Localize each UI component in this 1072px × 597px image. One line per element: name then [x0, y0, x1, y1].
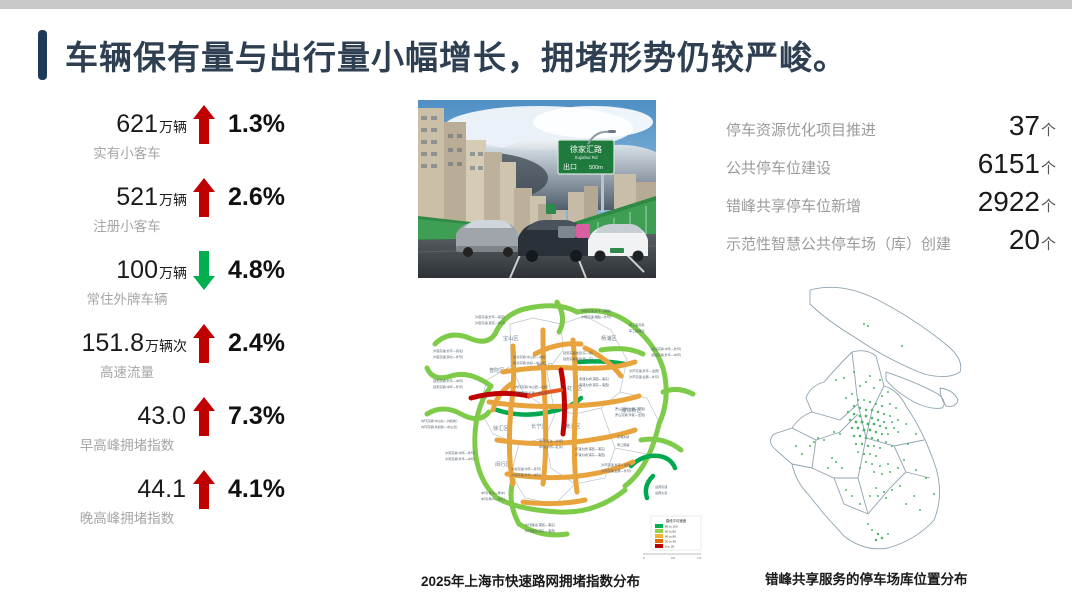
svg-text:中环(虹许—沪闵): 中环(虹许—沪闵) — [539, 438, 563, 443]
stat-unit: 万辆 — [159, 119, 187, 135]
svg-text:延安东路隧道(西—东): 延安东路隧道(西—东) — [563, 356, 593, 361]
svg-text:罗山高架(华夏—龙阳): 罗山高架(华夏—龙阳) — [615, 412, 645, 417]
stat-label: 常住外牌车辆 — [62, 288, 192, 308]
stat-label: 早高峰拥堵指数 — [62, 434, 192, 454]
parking-metric-unit: 个 — [1041, 198, 1056, 215]
svg-text:中环(沪闵—虹许): 中环(沪闵—虹许) — [539, 444, 563, 449]
svg-text:40 to 60: 40 to 60 — [665, 535, 676, 539]
parking-metrics-list: 停车资源优化项目推进 37个 公共停车位建设 6151个 错峰共享停车位新增 2… — [726, 112, 1056, 264]
parking-metric-unit: 个 — [1041, 160, 1056, 177]
svg-text:内环高架(虹桥—中山西): 内环高架(虹桥—中山西) — [515, 390, 548, 395]
stat-label: 高速流量 — [62, 361, 192, 381]
stat-unit: 万辆 — [159, 265, 187, 281]
title-text: 车辆保有量与出行量小幅增长，拥堵形势仍较严峻。 — [65, 31, 847, 79]
stat-item: 151.8万辆次 2.4% 高速流量 — [62, 323, 307, 396]
svg-text:3.5: 3.5 — [671, 556, 675, 560]
svg-text:沪嘉高速(外环—嘉定): 沪嘉高速(外环—嘉定) — [475, 314, 505, 319]
parking-metric-value: 37 — [1009, 110, 1040, 141]
svg-text:沪翔高速(翔殷—外环): 沪翔高速(翔殷—外环) — [581, 314, 611, 319]
stat-item: 621万辆 1.3% 实有小客车 — [62, 104, 307, 177]
stat-value: 43.0 — [137, 402, 186, 430]
svg-text:南北高架(中山北—共和): 南北高架(中山北—共和) — [513, 354, 546, 359]
stat-value: 151.8 — [81, 329, 144, 357]
vehicle-stats-list: 621万辆 1.3% 实有小客车 521万辆 2.6% 注册小客车 — [62, 104, 307, 542]
svg-text:沪翔高速(外环—翔殷): 沪翔高速(外环—翔殷) — [581, 308, 611, 313]
svg-text:罗山高架(龙阳—华夏): 罗山高架(龙阳—华夏) — [615, 406, 645, 411]
svg-text:80 to 100: 80 to 100 — [665, 525, 678, 529]
svg-text:沪闵高架(外环—中环): 沪闵高架(外环—中环) — [445, 456, 475, 461]
stat-percent: 7.3% — [228, 402, 285, 431]
svg-text:南北高架(共和—中山北): 南北高架(共和—中山北) — [513, 360, 546, 365]
parking-metric-label: 错峰共享停车位新增 — [726, 195, 861, 216]
arrow-up-icon — [190, 176, 218, 218]
stat-value-group: 521万辆 — [62, 185, 187, 210]
parking-metric-value-group: 2922个 — [978, 188, 1056, 216]
parking-metric-label: 示范性智慧公共停车场（库）创建 — [726, 233, 951, 254]
svg-text:沪芦高速(外环—迎宾): 沪芦高速(外环—迎宾) — [629, 368, 659, 373]
svg-text:沪渝高速(中环—外环): 沪渝高速(中环—外环) — [511, 466, 541, 471]
stat-label: 实有小客车 — [62, 142, 192, 162]
svg-text:20 to 40: 20 to 40 — [665, 540, 676, 544]
sign-line2: Xujiahui Rd — [574, 155, 598, 160]
svg-text:外环隧道(浦西—浦东): 外环隧道(浦西—浦东) — [525, 522, 555, 527]
parking-metric-value: 2922 — [978, 186, 1040, 217]
parking-metric-row: 停车资源优化项目推进 37个 — [726, 112, 1056, 150]
stat-item: 44.1 4.1% 晚高峰拥堵指数 — [62, 469, 307, 542]
svg-text:杨浦区: 杨浦区 — [601, 334, 617, 342]
stat-value: 621 — [116, 110, 158, 138]
svg-text:南浦大桥(浦东—浦西): 南浦大桥(浦东—浦西) — [579, 382, 609, 387]
stat-item: 100万辆 4.8% 常住外牌车辆 — [62, 250, 307, 323]
parking-metric-value-group: 6151个 — [978, 150, 1056, 178]
svg-text:60 to 80: 60 to 80 — [665, 530, 676, 534]
svg-text:卢浦大桥(浦西—浦东): 卢浦大桥(浦西—浦东) — [575, 446, 605, 451]
stat-value: 44.1 — [137, 475, 186, 503]
svg-text:沪芦高速(迎宾—外环): 沪芦高速(迎宾—外环) — [601, 468, 631, 473]
sign-line4: 500m — [589, 165, 603, 171]
top-gray-strip — [0, 0, 1072, 9]
svg-text:申江南路: 申江南路 — [617, 442, 629, 447]
svg-text:7.0: 7.0 — [697, 556, 701, 560]
stat-value: 521 — [116, 183, 158, 211]
sign-line3: 出口 — [563, 162, 577, 171]
svg-text:军工路高架: 军工路高架 — [629, 322, 644, 327]
svg-text:逸仙高架(外环—中环): 逸仙高架(外环—中环) — [651, 352, 681, 357]
svg-text:延安东路隧道(东—西): 延安东路隧道(东—西) — [563, 350, 593, 355]
parking-metric-row: 示范性智慧公共停车场（库）创建 20个 — [726, 226, 1056, 264]
stat-item: 43.0 7.3% 早高峰拥堵指数 — [62, 396, 307, 469]
parking-metric-value-group: 37个 — [1009, 112, 1056, 140]
parking-metric-value: 20 — [1009, 224, 1040, 255]
parking-metric-value: 6151 — [978, 148, 1040, 179]
stat-value-group: 621万辆 — [62, 112, 187, 137]
stat-value-group: 44.1 — [62, 477, 187, 502]
svg-text:沪芦高速(外环—迎宾): 沪芦高速(外环—迎宾) — [601, 462, 631, 467]
parking-metric-row: 错峰共享停车位新增 2922个 — [726, 188, 1056, 226]
arrow-up-icon — [190, 395, 218, 437]
parking-metric-label: 停车资源优化项目推进 — [726, 119, 876, 140]
congestion-road-network-map: 宝山区 杨浦区 静安区 虹口区 普陀区 浦东新区 黄浦区 长宁区 徐汇区 闵行区 — [415, 288, 705, 560]
road-map-caption: 2025年上海市快速路网拥堵指数分布 — [421, 570, 640, 590]
stat-percent: 4.1% — [228, 475, 285, 504]
arrow-up-icon — [190, 468, 218, 510]
svg-text:沪嘉高速(外环—真北): 沪嘉高速(外环—真北) — [433, 348, 463, 353]
svg-text:沪渝高速(外环—中环): 沪渝高速(外环—中环) — [511, 472, 541, 477]
svg-text:东海大桥: 东海大桥 — [617, 434, 629, 439]
svg-text:内环高架(中山北—共和新): 内环高架(中山北—共和新) — [421, 418, 457, 423]
parking-location-scatter-map — [748, 282, 1028, 560]
svg-text:0 to 20: 0 to 20 — [665, 545, 675, 549]
arrow-down-icon — [190, 249, 218, 291]
sign-line1: 徐家汇路 — [570, 144, 602, 154]
parking-metric-unit: 个 — [1041, 122, 1056, 139]
stat-percent: 2.6% — [228, 183, 285, 212]
svg-text:迎宾高速: 迎宾高速 — [655, 484, 667, 489]
stat-value-group: 151.8万辆次 — [62, 331, 187, 356]
stat-percent: 4.8% — [228, 256, 285, 285]
svg-text:中环(吴中—真北): 中环(吴中—真北) — [481, 496, 505, 501]
parking-metric-row: 公共停车位建设 6151个 — [726, 150, 1056, 188]
parking-map-caption: 错峰共享服务的停车场库位置分布 — [765, 568, 968, 588]
stat-label: 注册小客车 — [62, 215, 192, 235]
elevated-highway-photo: 徐家汇路 Xujiahui Rd 出口 500m — [418, 100, 656, 278]
svg-text:外环隧道(浦东—浦西): 外环隧道(浦东—浦西) — [525, 528, 555, 533]
stat-unit: 万辆 — [159, 192, 187, 208]
parking-metric-label: 公共停车位建设 — [726, 157, 831, 178]
svg-text:沪芦高速(迎宾—外环): 沪芦高速(迎宾—外环) — [629, 374, 659, 379]
stat-value-group: 43.0 — [62, 404, 187, 429]
svg-text:逸仙高架(中环—外环): 逸仙高架(中环—外环) — [651, 346, 681, 351]
svg-text:内环高架(共和新—中山北): 内环高架(共和新—中山北) — [421, 424, 457, 429]
stat-percent: 2.4% — [228, 329, 285, 358]
parking-metric-unit: 个 — [1041, 236, 1056, 253]
stat-value-group: 100万辆 — [62, 258, 187, 283]
svg-text:延安高架(中环—外环): 延安高架(中环—外环) — [433, 384, 463, 389]
svg-text:南浦大桥(浦西—浦东): 南浦大桥(浦西—浦东) — [579, 376, 609, 381]
parking-metric-value-group: 20个 — [1009, 226, 1056, 254]
svg-text:路段平均速度: 路段平均速度 — [666, 518, 687, 523]
title-accent-bar — [38, 30, 47, 80]
stat-item: 521万辆 2.6% 注册小客车 — [62, 177, 307, 250]
svg-text:卢浦大桥(浦东—浦西): 卢浦大桥(浦东—浦西) — [575, 452, 605, 457]
svg-text:内环高架(中山西—虹桥): 内环高架(中山西—虹桥) — [515, 384, 548, 389]
stat-label: 晚高峰拥堵指数 — [62, 507, 192, 527]
svg-text:沪闵高架(中环—外环): 沪闵高架(中环—外环) — [445, 450, 475, 455]
svg-text:沪嘉高速(真北—外环): 沪嘉高速(真北—外环) — [433, 354, 463, 359]
slide-canvas: 车辆保有量与出行量小幅增长，拥堵形势仍较严峻。 621万辆 1.3% 实有小客车… — [0, 0, 1072, 597]
arrow-up-icon — [190, 103, 218, 145]
svg-text:沪嘉高速(嘉定—外环): 沪嘉高速(嘉定—外环) — [475, 320, 505, 325]
svg-text:宝山区: 宝山区 — [503, 334, 519, 342]
arrow-up-icon — [190, 322, 218, 364]
stat-value: 100 — [116, 256, 158, 284]
page-title: 车辆保有量与出行量小幅增长，拥堵形势仍较严峻。 — [38, 30, 847, 80]
svg-text:迎宾大道: 迎宾大道 — [655, 490, 667, 495]
stat-percent: 1.3% — [228, 110, 285, 139]
svg-text:徐汇区: 徐汇区 — [493, 424, 509, 432]
svg-text:军工路隧道: 军工路隧道 — [629, 328, 644, 333]
svg-text:延安高架(外环—中环): 延安高架(外环—中环) — [433, 378, 463, 383]
svg-text:中环(真北—吴中): 中环(真北—吴中) — [481, 490, 505, 495]
stat-unit: 万辆次 — [145, 338, 187, 354]
